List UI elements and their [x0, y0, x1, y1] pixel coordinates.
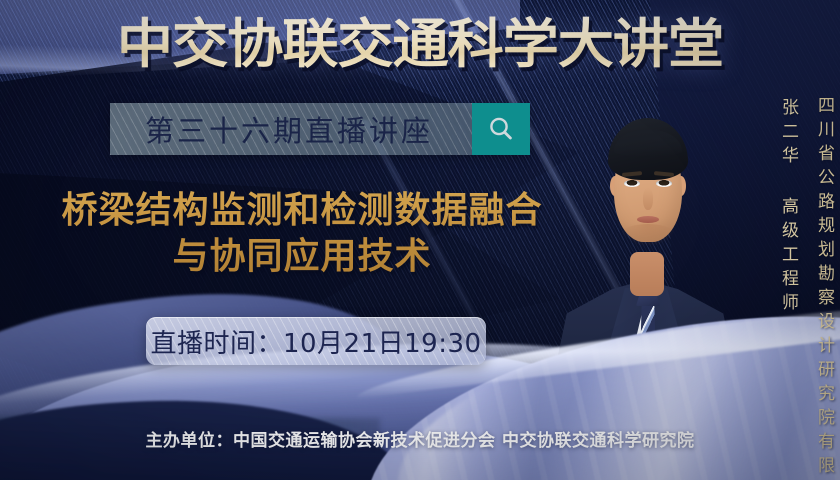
- episode-banner: 第三十六期直播讲座: [110, 103, 530, 155]
- search-button[interactable]: [472, 103, 530, 155]
- lecture-topic-line-1: 桥梁结构监测和检测数据融合: [42, 188, 562, 234]
- portrait-mouth: [637, 216, 659, 223]
- organizers-footer: 主办单位：中国交通运输协会新技术促进分会 中交协联交通科学研究院: [0, 426, 840, 451]
- episode-label: 第三十六期直播讲座: [110, 103, 472, 155]
- portrait-neck: [630, 252, 664, 296]
- schedule-text: 直播时间：10月21日19:30: [150, 323, 481, 360]
- lecture-topic-line-2: 与协同应用技术: [42, 234, 562, 280]
- portrait-chin-shading: [620, 224, 676, 246]
- portrait-eye-left: [624, 180, 640, 187]
- speaker-name-and-title: 张二华 高级工程师: [779, 98, 796, 317]
- speaker-organization: 四川省公路规划勘察设计研究院有限公司: [815, 96, 832, 480]
- portrait-nose: [643, 188, 653, 210]
- search-icon: [486, 114, 516, 144]
- schedule-badge: 直播时间：10月21日19:30: [146, 317, 486, 365]
- lecture-topic: 桥梁结构监测和检测数据融合 与协同应用技术: [42, 188, 562, 280]
- livestream-poster: 中交协联交通科学大讲堂 第三十六期直播讲座 桥梁结构监测和检测数据融合 与协同应…: [0, 0, 840, 480]
- portrait-eye-right: [656, 180, 672, 187]
- page-title: 中交协联交通科学大讲堂: [0, 14, 840, 76]
